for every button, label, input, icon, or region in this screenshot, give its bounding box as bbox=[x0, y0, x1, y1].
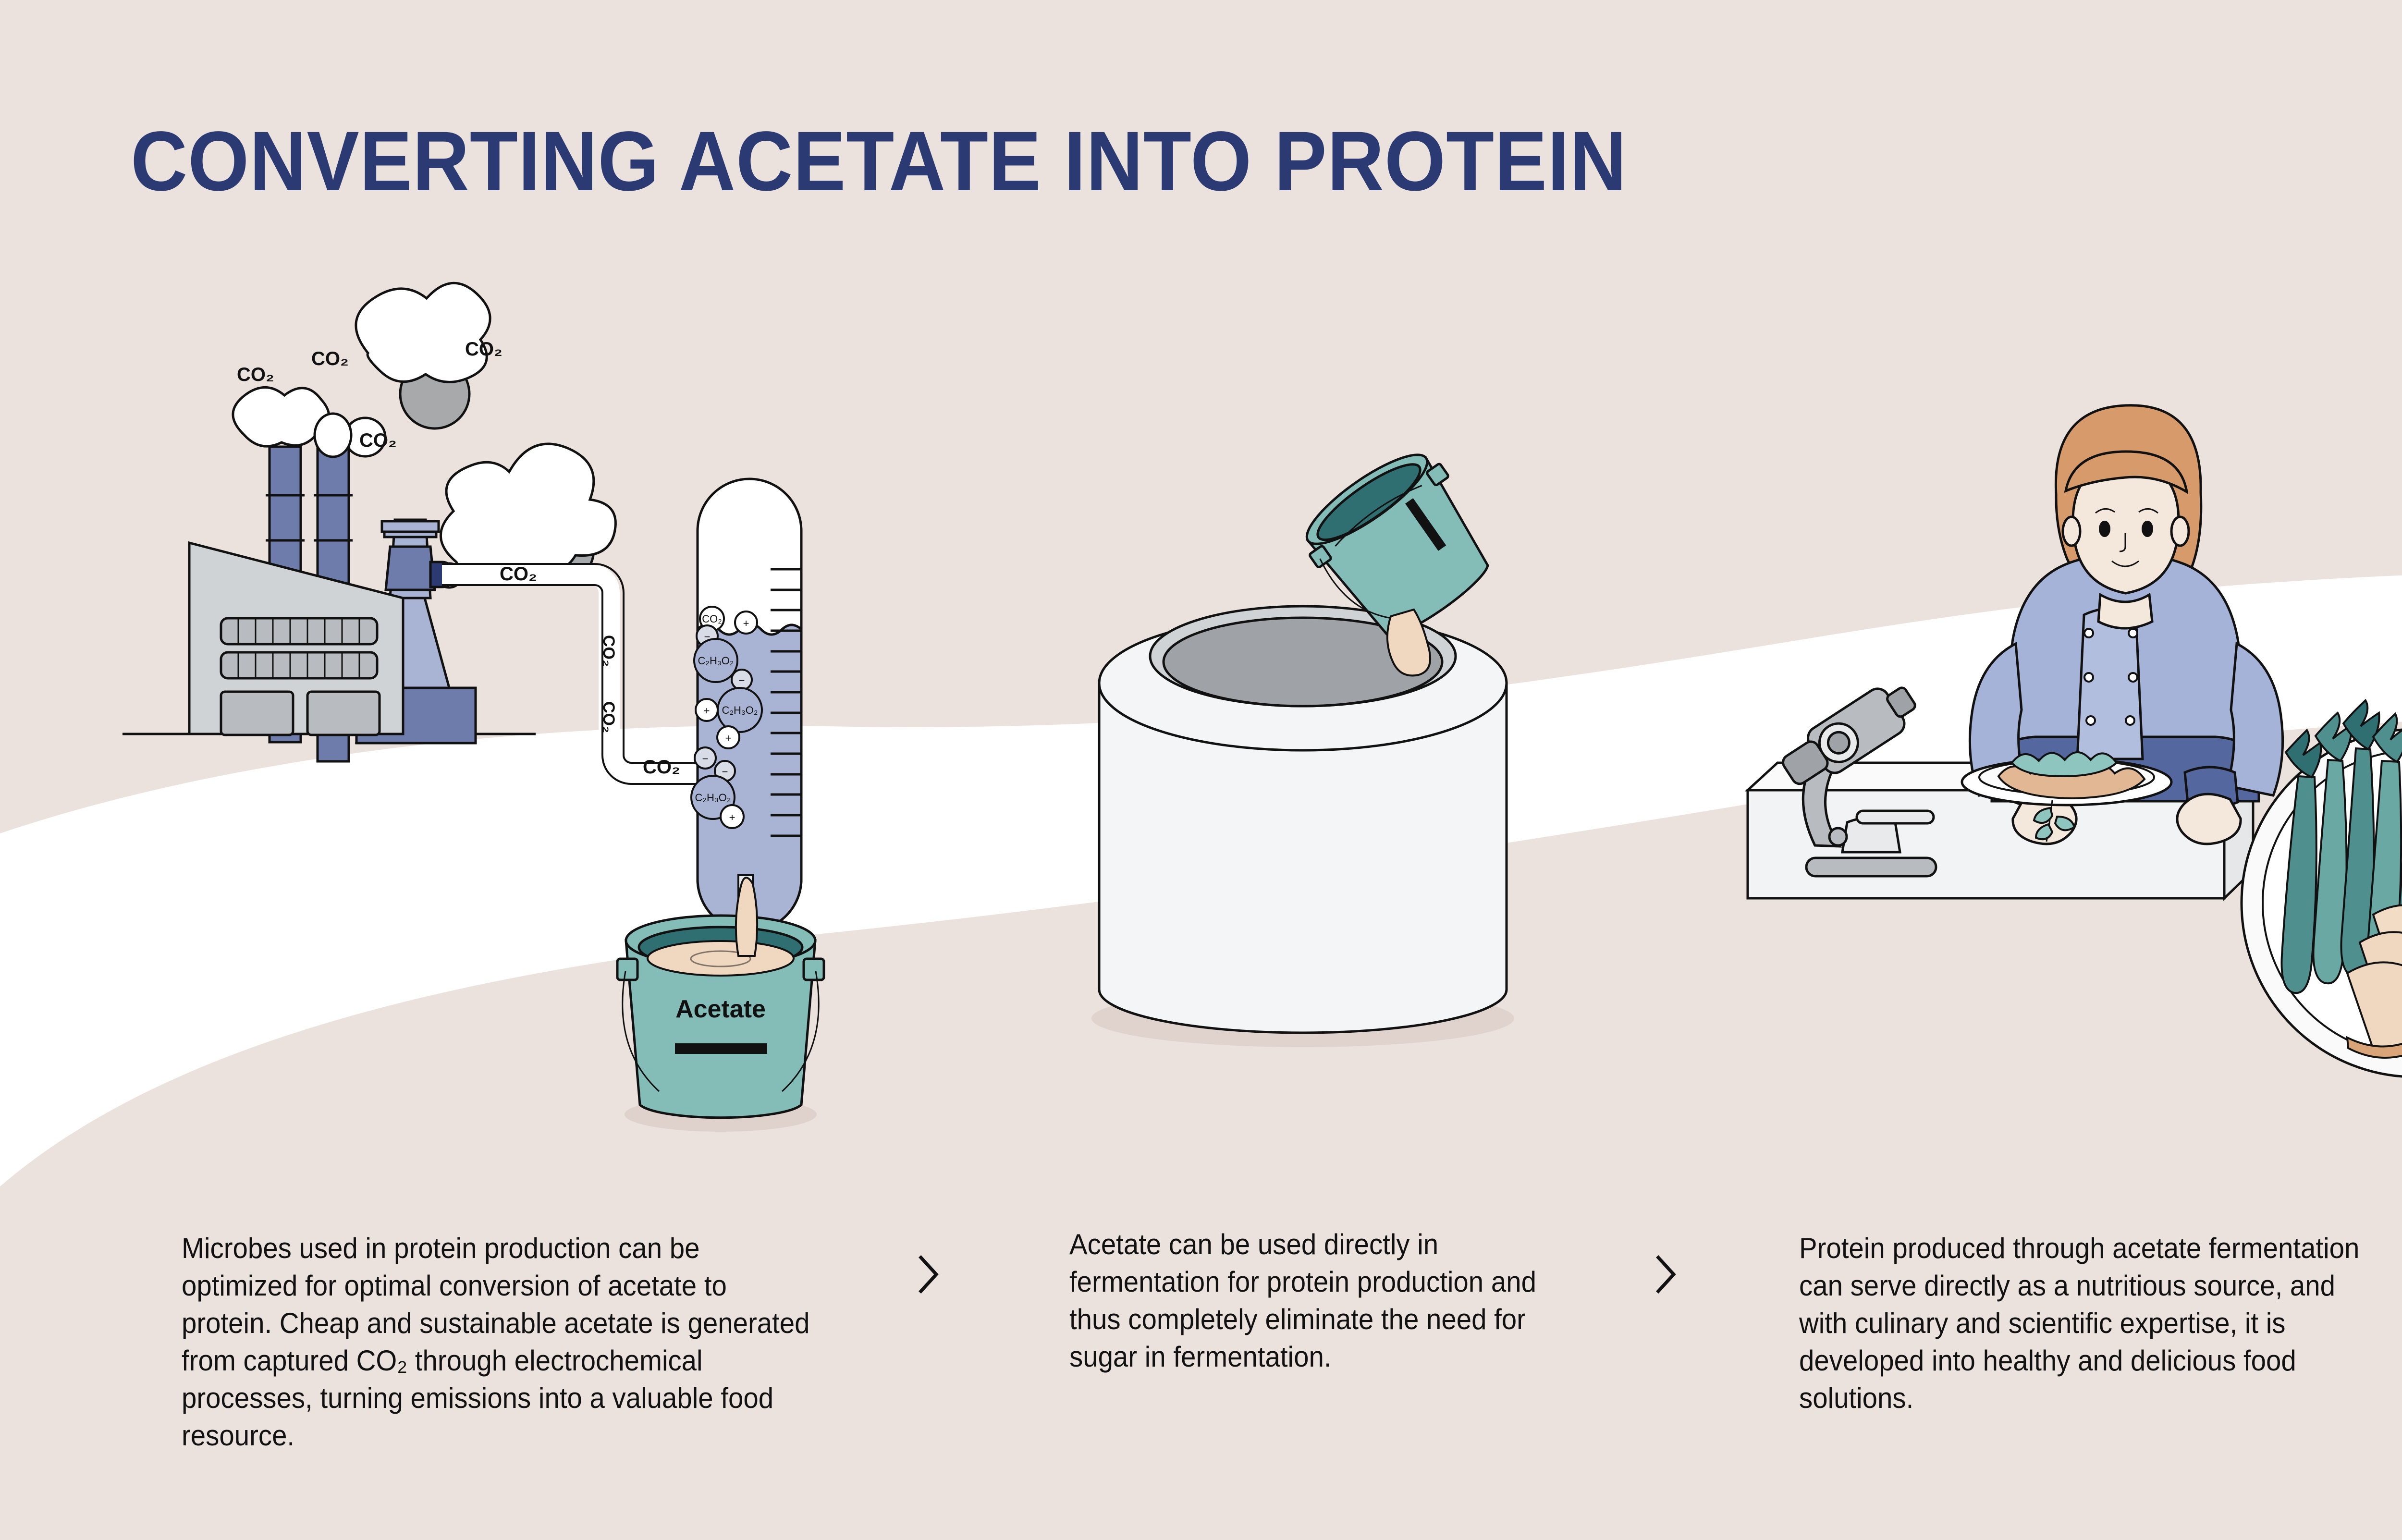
bubble-label-minus: − bbox=[702, 753, 709, 765]
co2-label: CO₂ bbox=[359, 430, 397, 451]
bubble-label-minus: − bbox=[722, 766, 728, 778]
bubble-label-plus: + bbox=[704, 705, 710, 717]
factory-building bbox=[189, 543, 403, 735]
chevron-right-icon bbox=[915, 1253, 942, 1296]
co2-label: CO₂ bbox=[600, 635, 618, 667]
illustration-chef-scene bbox=[1748, 405, 2283, 898]
co2-label: CO₂ bbox=[500, 563, 537, 585]
step-caption-3: Protein produced through acetate ferment… bbox=[1799, 1230, 2386, 1417]
bubble-label-plus: + bbox=[743, 617, 749, 629]
illustration-factory: CO₂ CO₂ CO₂ CO₂ CO₂ CO₂ CO₂ CO₂ bbox=[123, 283, 824, 1132]
co2-label: CO₂ bbox=[311, 348, 349, 369]
bubble-label-co2: CO₂ bbox=[702, 613, 722, 625]
bubble-label-acetate: C₂H₃O₂ bbox=[695, 792, 731, 804]
co2-label: CO₂ bbox=[237, 364, 274, 385]
bubble-label-minus: − bbox=[739, 674, 745, 686]
bucket-acetate-label: Acetate bbox=[675, 995, 766, 1023]
bubble-label-acetate: C₂H₃O₂ bbox=[722, 704, 758, 716]
acetate-bucket: Acetate bbox=[617, 878, 824, 1132]
page-title: CONVERTING ACETATE INTO PROTEIN bbox=[131, 119, 1627, 204]
illustration-fermentation-tank bbox=[1091, 437, 1514, 1047]
chevron-right-icon bbox=[2400, 1253, 2402, 1296]
co2-label: CO₂ bbox=[465, 339, 502, 360]
bubble-label-plus: + bbox=[725, 732, 732, 744]
step-caption-1: Microbes used in protein production can … bbox=[182, 1230, 823, 1454]
co2-pipe bbox=[442, 564, 701, 784]
bubble-label-plus: + bbox=[729, 811, 735, 823]
co2-label: CO₂ bbox=[600, 701, 618, 733]
co2-label: CO₂ bbox=[643, 757, 680, 778]
bubble-label-acetate: C₂H₃O₂ bbox=[698, 655, 734, 667]
chevron-right-icon bbox=[1653, 1253, 1679, 1296]
caption-row: Microbes used in protein production can … bbox=[0, 1230, 2402, 1518]
infographic-canvas: CO₂ CO₂ CO₂ CO₂ CO₂ CO₂ CO₂ CO₂ bbox=[0, 0, 2402, 1540]
step-caption-2: Acetate can be used directly in fermenta… bbox=[1069, 1226, 1580, 1376]
